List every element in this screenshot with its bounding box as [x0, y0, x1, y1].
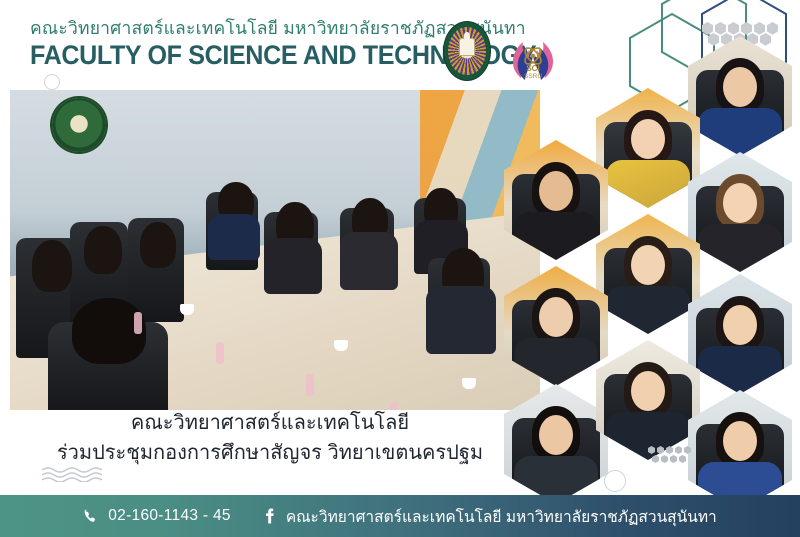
main-meeting-photo: [10, 90, 540, 410]
poster-header: คณะวิทยาศาสตร์และเทคโนโลยี มหาวิทยาลัยรา…: [0, 0, 800, 90]
poster-canvas: คณะวิทยาศาสตร์และเทคโนโลยี มหาวิทยาลัยรา…: [0, 0, 800, 537]
footer-facebook-page[interactable]: คณะวิทยาศาสตร์และเทคโนโลยี มหาวิทยาลัยรา…: [286, 504, 717, 529]
caption-line-1: คณะวิทยาศาสตร์และเทคโนโลยี: [0, 408, 540, 438]
header-thai-title: คณะวิทยาศาสตร์และเทคโนโลยี มหาวิทยาลัยรา…: [30, 18, 574, 38]
ring-outline-decor: [44, 74, 60, 90]
facebook-icon: [261, 508, 277, 524]
hex-photo-tile: [596, 214, 700, 334]
header-text-block: คณะวิทยาศาสตร์และเทคโนโลยี มหาวิทยาลัยรา…: [30, 18, 574, 70]
poster-footer: 02-160-1143 - 45 คณะวิทยาศาสตร์และเทคโนโ…: [0, 495, 800, 537]
sci-logo-line1: SCI: [526, 64, 539, 73]
ssru-university-seal-icon: [443, 21, 491, 81]
caption-line-2: ร่วมประชุมกองการศึกษาสัญจร วิทยาเขตนครปฐ…: [0, 438, 540, 468]
ring-outline-decor: [604, 470, 626, 492]
dot-cluster-decor: [648, 446, 704, 470]
hex-photo-tile: [596, 340, 700, 460]
wall-emblem-icon: [52, 98, 106, 152]
hex-photo-tile: [688, 152, 792, 272]
sci-ssru-logo-icon: SCI SSRU: [507, 26, 559, 82]
wave-lines-decor: [42, 466, 102, 482]
hex-photo-tile: [688, 274, 792, 394]
footer-phone-number[interactable]: 02-160-1143 - 45: [108, 507, 231, 525]
sci-logo-line2: SSRU: [524, 73, 542, 80]
caption-block: คณะวิทยาศาสตร์และเทคโนโลยี ร่วมประชุมกอง…: [0, 408, 540, 468]
phone-icon: [83, 508, 99, 524]
